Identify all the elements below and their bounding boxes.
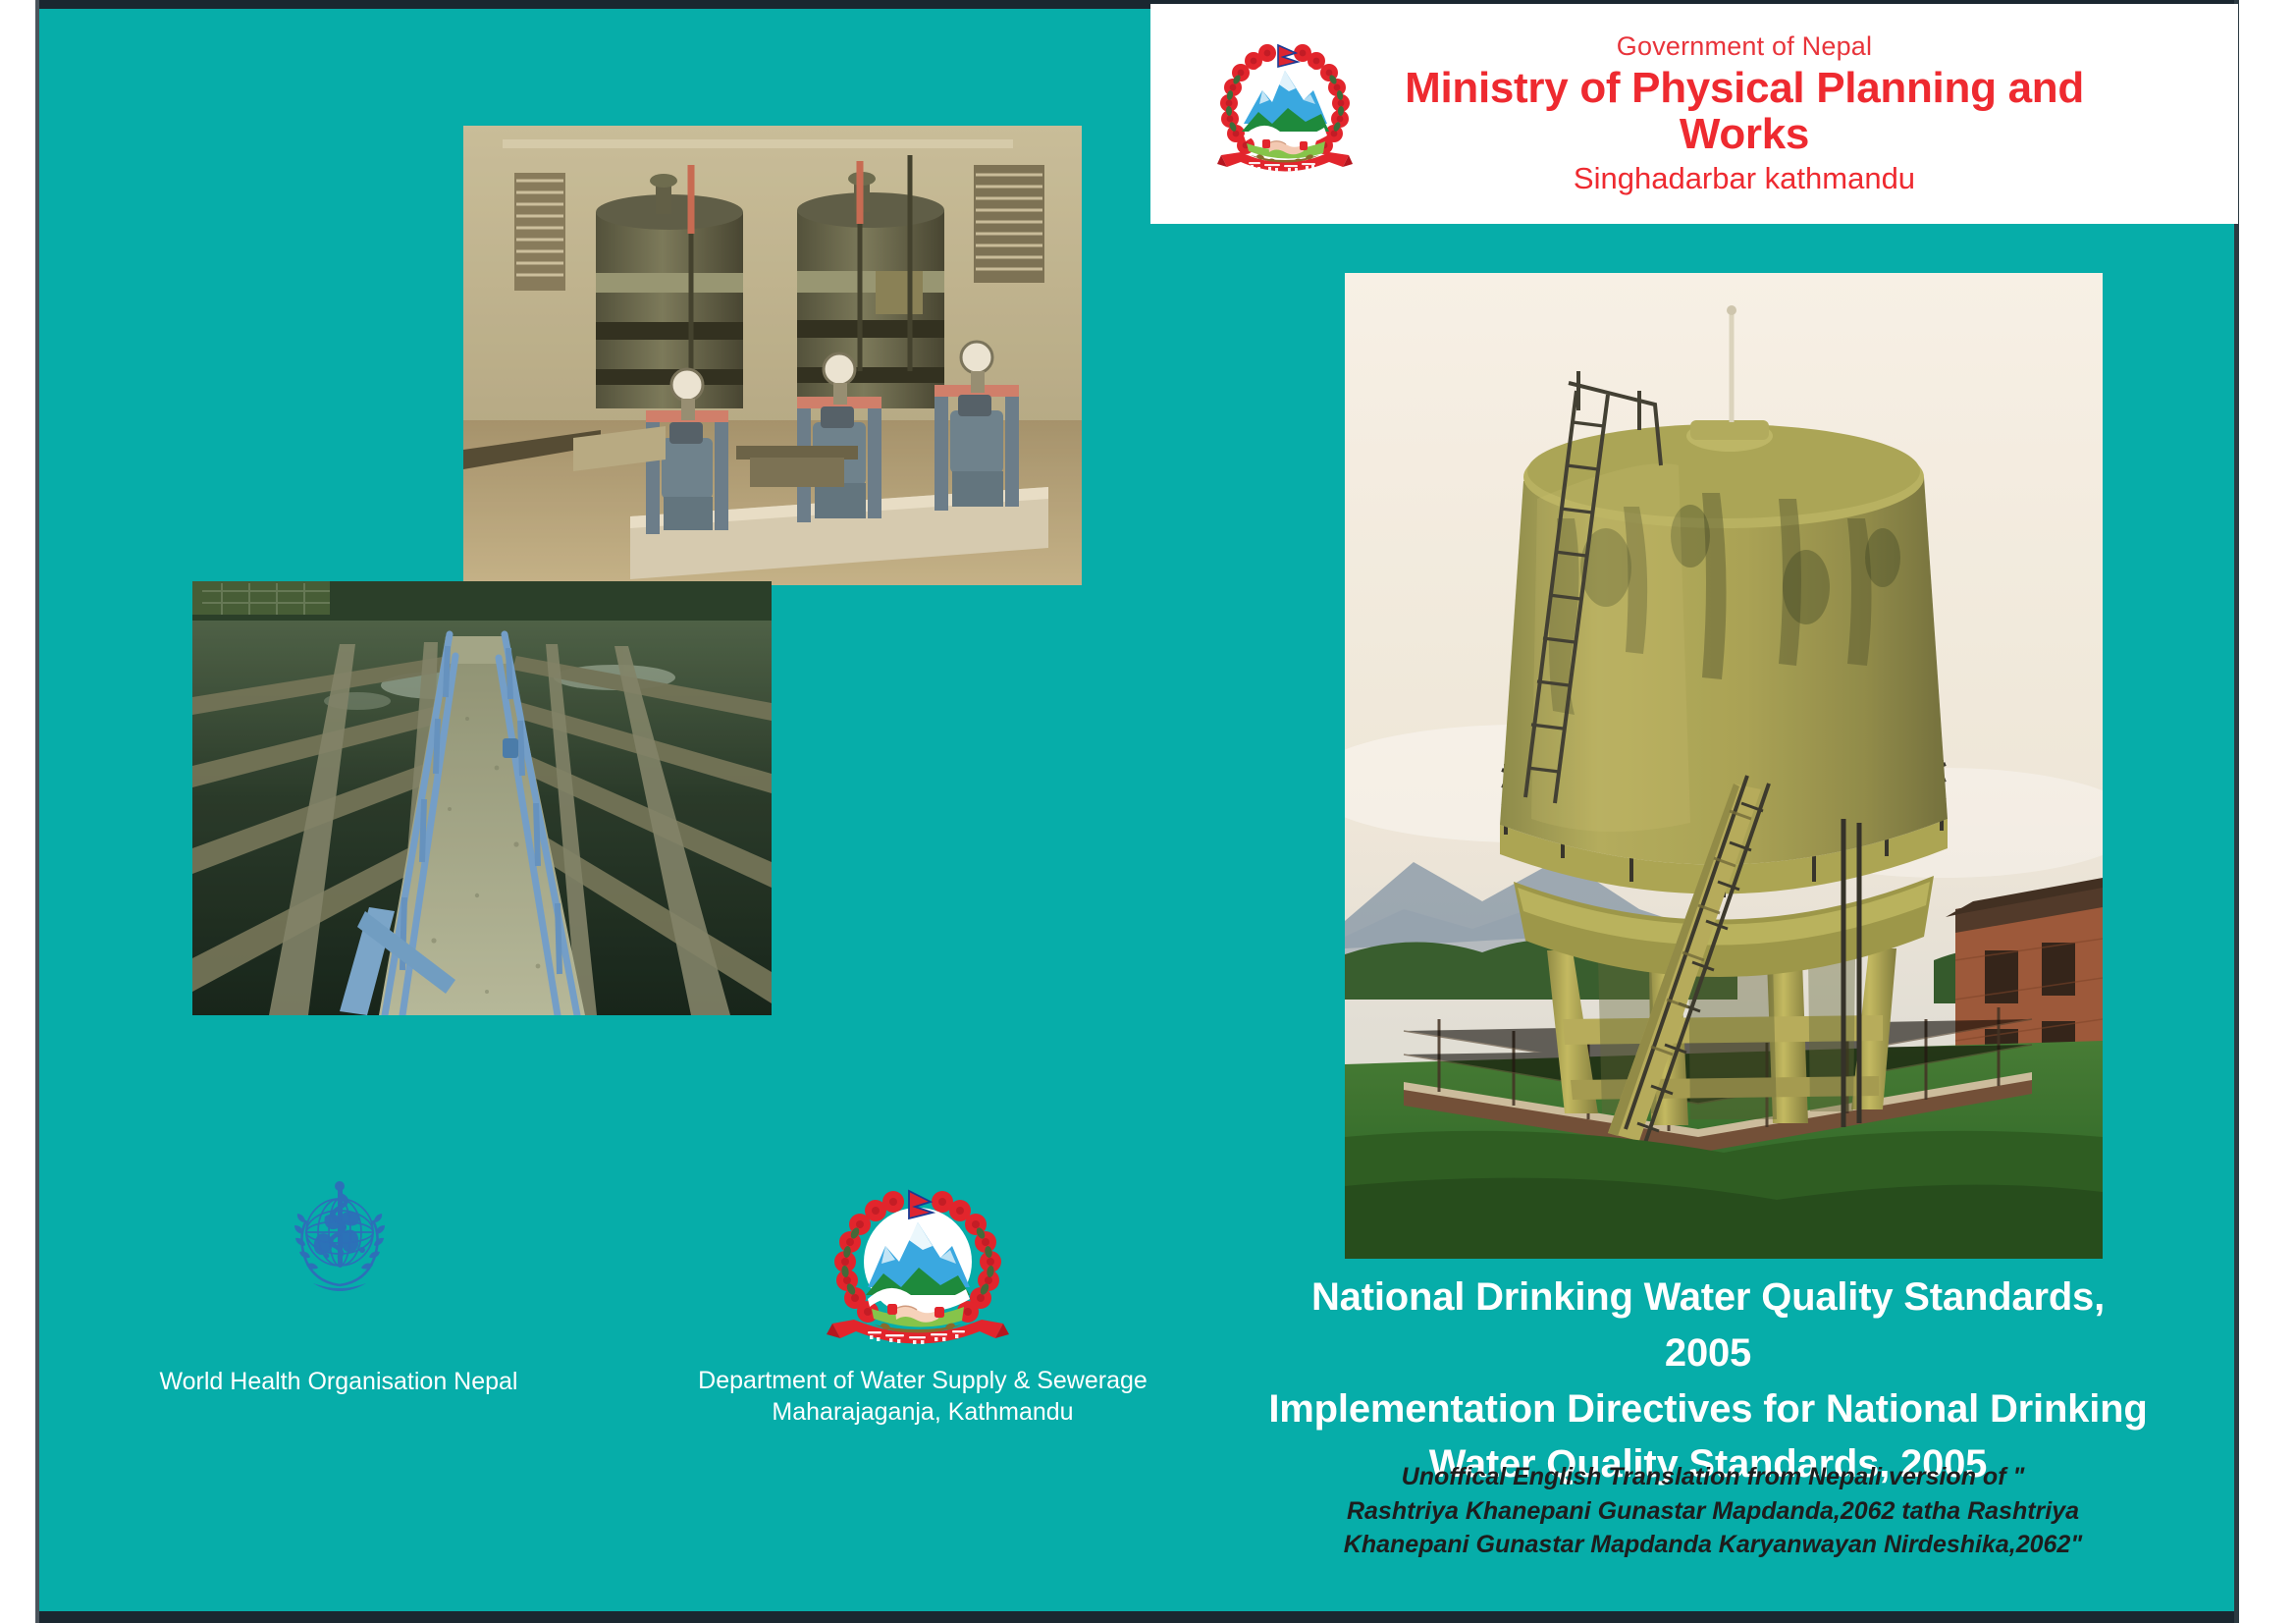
who-logo <box>280 1177 400 1297</box>
water-tower-illustration <box>1345 273 2103 1259</box>
dwss-caption-line-2: Maharajaganja, Kathmandu <box>648 1396 1198 1428</box>
header-band: Government of Nepal Ministry of Physical… <box>1150 4 2238 224</box>
dwss-caption: Department of Water Supply & Sewerage Ma… <box>648 1365 1198 1428</box>
translation-note-line-3: Khanepani Gunastar Mapdanda Karyanwayan … <box>1276 1528 2150 1562</box>
ministry-name-line: Ministry of Physical Planning and Works <box>1359 66 2130 157</box>
trim-line-left <box>35 0 39 1623</box>
document-cover-page: Government of Nepal Ministry of Physical… <box>0 0 2296 1623</box>
translation-note-line-2: Rashtriya Khanepani Gunastar Mapdanda,20… <box>1276 1494 2150 1529</box>
ministry-address-line: Singhadarbar kathmandu <box>1359 161 2130 196</box>
who-caption: World Health Organisation Nepal <box>118 1367 560 1397</box>
dwss-caption-line-1: Department of Water Supply & Sewerage <box>648 1365 1198 1396</box>
elevated-water-tower-photo <box>1345 273 2103 1259</box>
sedimentation-tanks-photo <box>192 581 772 1015</box>
trim-line-right <box>2234 0 2239 1623</box>
government-of-nepal-line: Government of Nepal <box>1359 31 2130 62</box>
chlorination-pumps-photo <box>463 126 1082 585</box>
title-line-1: National Drinking Water Quality Standard… <box>1266 1270 2150 1381</box>
trim-line-bottom <box>35 1611 2238 1623</box>
title-line-2: Implementation Directives for National D… <box>1266 1381 2150 1437</box>
nepal-government-emblem <box>1211 33 1359 195</box>
translation-note-block: Unoffical English Translation from Nepal… <box>1276 1460 2150 1562</box>
sedimentation-basins-illustration <box>192 581 772 1015</box>
header-text-block: Government of Nepal Ministry of Physical… <box>1359 31 2238 195</box>
pump-room-illustration <box>463 126 1082 585</box>
translation-note-line-1: Unoffical English Translation from Nepal… <box>1276 1460 2150 1494</box>
dwss-emblem <box>825 1181 1011 1363</box>
